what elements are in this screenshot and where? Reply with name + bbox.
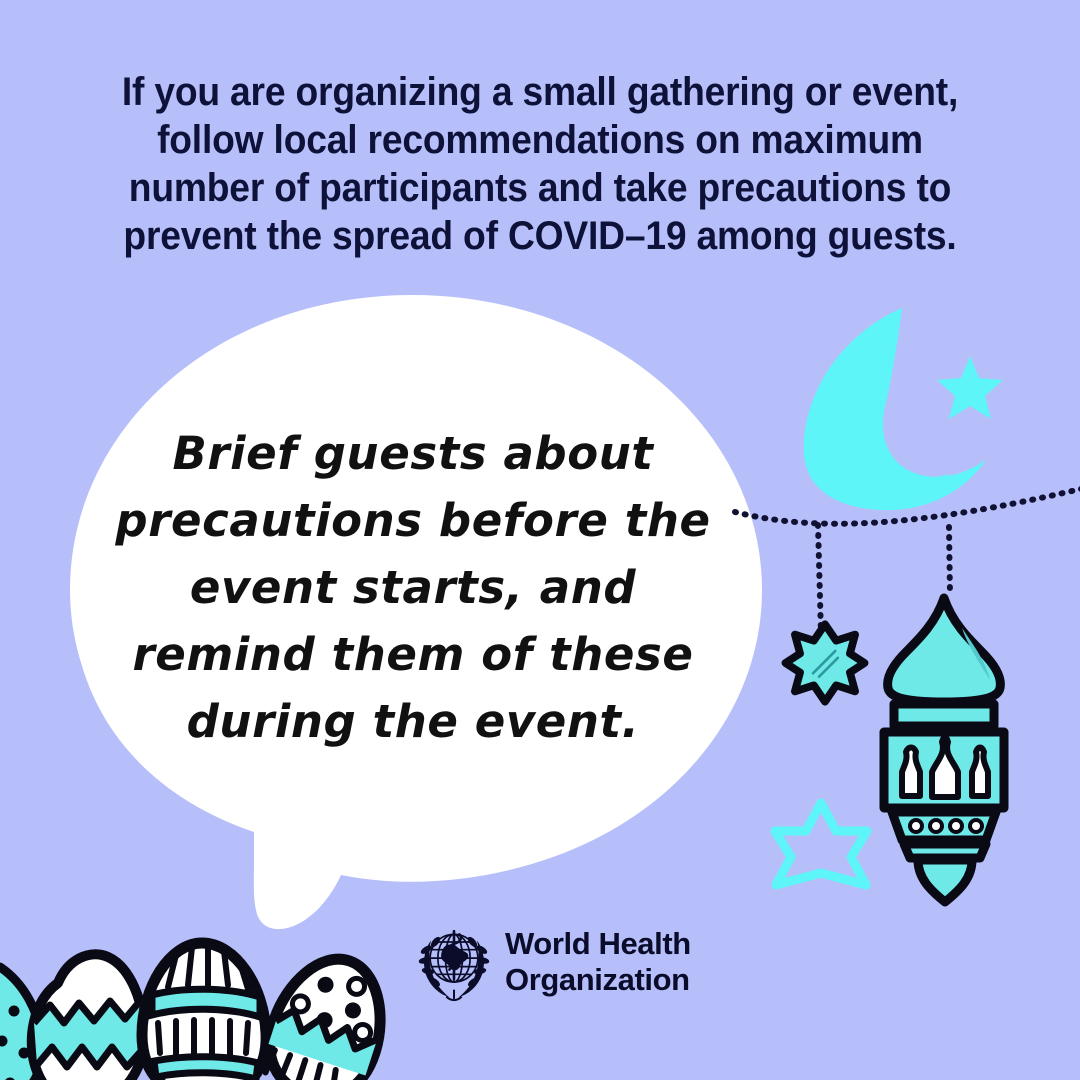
bubble-line-4: remind them of these bbox=[108, 621, 718, 688]
bubble-line-3: event starts, and bbox=[108, 554, 718, 621]
headline-line-2: follow local recommendations on maximum bbox=[94, 116, 987, 164]
six-point-star-icon bbox=[766, 795, 876, 895]
decorated-egg-dotted-tilted bbox=[255, 944, 399, 1080]
decorated-eggs-group bbox=[0, 925, 380, 1080]
decorated-egg-zigzag bbox=[32, 954, 144, 1080]
headline-line-3: number of participants and take precauti… bbox=[94, 164, 987, 212]
bubble-line-5: during the event. bbox=[108, 688, 718, 755]
ramadan-lantern-icon bbox=[862, 590, 1027, 880]
headline-line-1: If you are organizing a small gathering … bbox=[94, 68, 987, 116]
who-emblem-icon bbox=[415, 922, 493, 1002]
decorated-egg-striped bbox=[142, 943, 266, 1080]
who-wordmark: World Health Organization bbox=[505, 926, 691, 998]
headline-line-4: prevent the spread of COVID–19 among gue… bbox=[94, 212, 987, 260]
who-name-line-2: Organization bbox=[505, 962, 691, 998]
who-logo: World Health Organization bbox=[415, 922, 691, 1002]
eight-point-star-icon bbox=[782, 620, 868, 706]
bubble-line-1: Brief guests about bbox=[108, 420, 718, 487]
page-title: If you are organizing a small gathering … bbox=[94, 68, 987, 260]
poster-canvas: If you are organizing a small gathering … bbox=[0, 0, 1080, 1080]
who-name-line-1: World Health bbox=[505, 926, 691, 962]
bubble-line-2: precautions before the bbox=[108, 487, 718, 554]
speech-bubble-message: Brief guests about precautions before th… bbox=[108, 420, 718, 755]
